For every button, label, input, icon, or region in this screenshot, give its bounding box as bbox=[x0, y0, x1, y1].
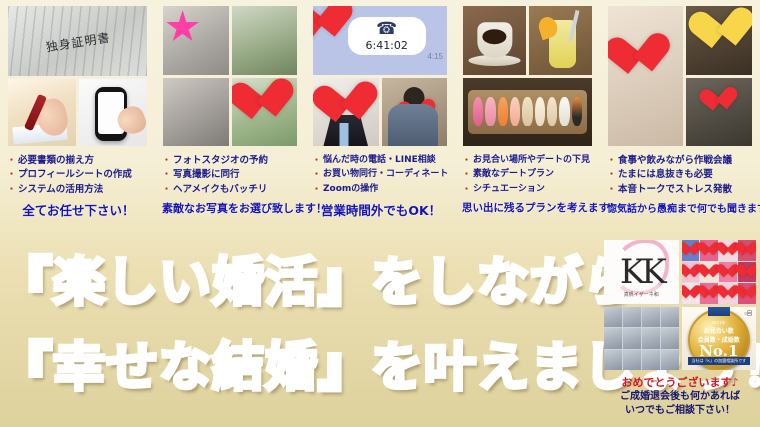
call-duration: 6:41:02 bbox=[365, 39, 407, 52]
list-item: ・素敵なデートプラン bbox=[462, 168, 595, 182]
list-item: ・シチュエーション bbox=[462, 183, 595, 197]
photo-person-red-heart bbox=[608, 6, 683, 146]
company-logo: KK 真帆イザーネ和 bbox=[604, 240, 679, 304]
bullet-text: 食事や飲みながら作戦会議 bbox=[618, 154, 732, 168]
bullet-marker: ・ bbox=[7, 183, 16, 197]
service-block-talk-support: ・食事や飲みながら作戦会議 ・たまには息抜きも必要 ・本音トークでストレス発散 … bbox=[600, 150, 760, 238]
bullet-list: ・必要書類の揃え方 ・プロフィールシートの作成 ・システムの活用方法 bbox=[7, 154, 150, 197]
brand-collage: KK 真帆イザーネ和 ○回 2021年 bbox=[600, 238, 760, 372]
tagline: 営業時間外でもOK！ bbox=[312, 200, 450, 219]
bullet-marker: ・ bbox=[7, 154, 16, 168]
bullet-text: ヘアメイクもバッチリ bbox=[173, 183, 267, 197]
photo-column-documents: 独身証明書 bbox=[0, 0, 155, 150]
phone-call-icon: ☎ bbox=[376, 20, 397, 37]
photo-column-date-planning bbox=[455, 0, 600, 150]
list-item: ・悩んだ時の電話・LINE相談 bbox=[312, 154, 450, 168]
service-block-date-planning: ・お見合い場所やデートの下見 ・素敵なデートプラン ・シチュエーション 思い出に… bbox=[455, 150, 600, 238]
bullet-marker: ・ bbox=[7, 168, 16, 182]
photo-column-photo-studio bbox=[155, 0, 305, 150]
message-timestamp: 4:15 bbox=[427, 52, 443, 61]
bullet-text: 本音トークでストレス発散 bbox=[618, 183, 732, 197]
bullet-marker: ・ bbox=[162, 154, 171, 168]
bullet-list: ・フォトスタジオの予約 ・写真撮影に同行 ・ヘアメイクもバッチリ bbox=[162, 154, 300, 197]
bullet-text: シチュエーション bbox=[473, 183, 545, 197]
headline: 『楽しい婚活』をしながら 『楽しい婚活』をしながら 『幸せな結婚』を叶えましょう… bbox=[0, 240, 600, 400]
bullet-list: ・食事や飲みながら作戦会議 ・たまには息抜きも必要 ・本音トークでストレス発散 bbox=[607, 154, 755, 197]
headline-line-1-text: 『楽しい婚活』をしながら bbox=[8, 253, 644, 313]
tagline: 思い出に残るプランを考えます！ bbox=[462, 200, 595, 215]
headline-line-2: 『幸せな結婚』を叶えましょう！ 『幸せな結婚』を叶えましょう！ bbox=[0, 325, 600, 400]
photo-strip: 独身証明書 bbox=[0, 0, 760, 150]
list-item: ・本音トークでストレス発散 bbox=[607, 183, 755, 197]
heart-sticker bbox=[614, 33, 677, 91]
logo-letter: KK bbox=[620, 252, 663, 292]
bullet-text: プロフィールシートの作成 bbox=[18, 168, 132, 182]
photo-hair-makeup bbox=[163, 6, 229, 75]
call-bubble: ☎ 6:41:02 bbox=[348, 17, 426, 55]
ribbon-icon bbox=[708, 307, 730, 316]
bullet-text: お見合い場所やデートの下見 bbox=[473, 154, 590, 168]
service-block-photo-studio: ・フォトスタジオの予約 ・写真撮影に同行 ・ヘアメイクもバッチリ 素敵なお写真を… bbox=[155, 150, 305, 238]
photo-single-certificate: 独身証明書 bbox=[8, 6, 147, 76]
bullet-marker: ・ bbox=[462, 168, 471, 182]
bullet-text: システムの活用方法 bbox=[18, 183, 103, 197]
heart-sticker bbox=[238, 80, 286, 124]
bullet-marker: ・ bbox=[462, 183, 471, 197]
photo-coffee-cup bbox=[463, 6, 526, 75]
list-item: ・システムの活用方法 bbox=[7, 183, 150, 197]
photo-lemonade bbox=[529, 6, 592, 75]
heart-sticker bbox=[313, 6, 345, 45]
bullet-marker: ・ bbox=[607, 183, 616, 197]
medal-footer-text: 当社は『K』の加盟相談所です bbox=[688, 357, 751, 365]
bullet-marker: ・ bbox=[607, 168, 616, 182]
list-item: ・必要書類の揃え方 bbox=[7, 154, 150, 168]
photo-man-from-behind bbox=[382, 78, 448, 147]
heart-sticker bbox=[705, 87, 733, 114]
photo-person-yellow-heart bbox=[686, 6, 752, 75]
bullet-list: ・悩んだ時の電話・LINE相談 ・お買い物同行・コーディネート ・Zoomの操作 bbox=[312, 154, 450, 197]
pink-star-sticker bbox=[166, 10, 200, 44]
bullet-text: 写真撮影に同行 bbox=[173, 168, 240, 182]
bullet-marker: ・ bbox=[162, 183, 171, 197]
service-block-consultation: ・悩んだ時の電話・LINE相談 ・お買い物同行・コーディネート ・Zoomの操作… bbox=[305, 150, 455, 238]
closing-line-1: おめでとうございます♪ bbox=[600, 374, 760, 390]
bullet-marker: ・ bbox=[312, 154, 321, 168]
certificate-label: 独身証明書 bbox=[44, 29, 111, 56]
headline-line-1: 『楽しい婚活』をしながら 『楽しい婚活』をしながら bbox=[0, 240, 600, 315]
photo-column-consultation: ☎ 6:41:02 4:15 bbox=[305, 0, 455, 150]
bullet-text: お買い物同行・コーディネート bbox=[323, 168, 448, 182]
heart-sticker bbox=[322, 83, 370, 127]
list-item: ・ヘアメイクもバッチリ bbox=[162, 183, 300, 197]
bullet-marker: ・ bbox=[312, 168, 321, 182]
bullet-marker: ・ bbox=[462, 154, 471, 168]
bullet-text: 悩んだ時の電話・LINE相談 bbox=[323, 154, 436, 168]
list-item: ・写真撮影に同行 bbox=[162, 168, 300, 182]
medal-corner-badge: ○回 bbox=[744, 310, 752, 317]
photo-portrait-outdoor bbox=[232, 78, 298, 147]
bullet-text: 素敵なデートプラン bbox=[473, 168, 554, 182]
photo-outdoor-shoot bbox=[232, 6, 298, 75]
bullet-marker: ・ bbox=[312, 183, 321, 197]
closing-line-2: ご成婚退会後も何かあれば bbox=[600, 390, 760, 404]
heart-sticker bbox=[403, 100, 431, 127]
list-item: ・プロフィールシートの作成 bbox=[7, 168, 150, 182]
photo-makeup-chair bbox=[163, 78, 229, 147]
bullet-text: 必要書類の揃え方 bbox=[18, 154, 94, 168]
bullet-list: ・お見合い場所やデートの下見 ・素敵なデートプラン ・シチュエーション bbox=[462, 154, 595, 197]
tagline: 全てお任せ下さい！ bbox=[7, 200, 150, 219]
list-item: ・たまには息抜きも必要 bbox=[607, 168, 755, 182]
service-text-row: ・必要書類の揃え方 ・プロフィールシートの作成 ・システムの活用方法 全てお任せ… bbox=[0, 150, 760, 238]
photo-person-blue-outfit bbox=[686, 78, 752, 147]
service-block-documents: ・必要書類の揃え方 ・プロフィールシートの作成 ・システムの活用方法 全てお任せ… bbox=[0, 150, 155, 238]
photo-man-in-suit bbox=[313, 78, 379, 147]
photo-column-talk-support bbox=[600, 0, 760, 150]
tagline: 惚気話から愚痴まで何でも聞きます！ bbox=[607, 200, 755, 215]
bullet-text: フォトスタジオの予約 bbox=[173, 154, 268, 168]
bullet-marker: ・ bbox=[162, 168, 171, 182]
hearts-photo-grid bbox=[682, 240, 757, 304]
no1-award-medal: ○回 2021年 お見合い数 会員数・成婚数 No.1 当社は『K』の加盟相談所… bbox=[682, 307, 757, 371]
medal-line-1: お見合い数 bbox=[704, 326, 734, 335]
list-item: ・フォトスタジオの予約 bbox=[162, 154, 300, 168]
photo-line-call-screen: ☎ 6:41:02 4:15 bbox=[313, 6, 447, 75]
bullet-marker: ・ bbox=[607, 154, 616, 168]
list-item: ・お見合い場所やデートの下見 bbox=[462, 154, 595, 168]
photo-writing-form bbox=[8, 79, 76, 146]
closing-message: おめでとうございます♪ ご成婚退会後も何かあれば いつでもご相談下さい！ bbox=[600, 374, 760, 417]
list-item: ・食事や飲みながら作戦会議 bbox=[607, 154, 755, 168]
bullet-text: たまには息抜きも必要 bbox=[618, 168, 713, 182]
list-item: ・Zoomの操作 bbox=[312, 183, 450, 197]
photo-smartphone bbox=[79, 79, 147, 146]
member-photo-grid bbox=[604, 307, 679, 371]
heart-sticker-yellow bbox=[699, 8, 747, 52]
list-item: ・お買い物同行・コーディネート bbox=[312, 168, 450, 182]
tagline: 素敵なお写真をお選び致します！ bbox=[162, 200, 300, 216]
photo-sushi-platter bbox=[463, 78, 592, 147]
bullet-text: Zoomの操作 bbox=[323, 183, 378, 197]
closing-line-3: いつでもご相談下さい！ bbox=[600, 404, 760, 418]
